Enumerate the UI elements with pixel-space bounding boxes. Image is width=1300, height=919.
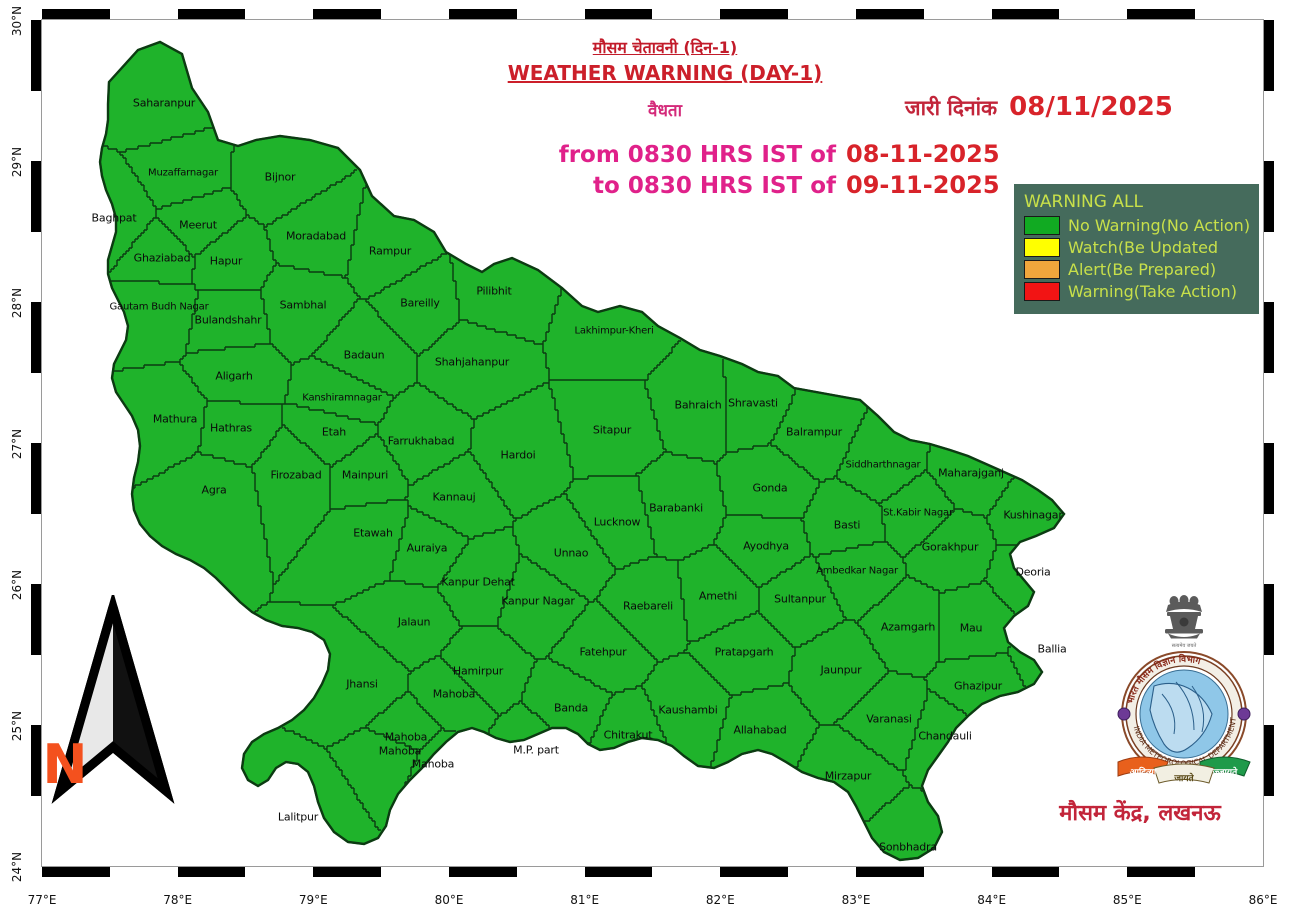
legend-color-swatch bbox=[1024, 216, 1060, 235]
validity-to-row: to 0830 HRS IST of 09-11-2025 bbox=[430, 171, 1010, 199]
imd-caption: मौसम केंद्र, लखनऊ bbox=[1000, 797, 1280, 827]
legend-item-label: No Warning(No Action) bbox=[1068, 216, 1250, 235]
x-axis-tick-label: 78°E bbox=[163, 893, 192, 907]
validity-from-date: 08-11-2025 bbox=[846, 140, 1000, 168]
imd-logo-icon: सत्यमेव जयते भारत मौसम विज्ञान विभाग IND… bbox=[1092, 586, 1277, 791]
legend-item[interactable]: No Warning(No Action) bbox=[1024, 216, 1251, 235]
x-axis-tick-label: 85°E bbox=[1113, 893, 1142, 907]
svg-text:ज्जायते: ज्जायते bbox=[1212, 766, 1238, 778]
y-axis-tick-label: 26°N bbox=[2, 562, 28, 606]
legend-item[interactable]: Warning(Take Action) bbox=[1024, 282, 1251, 301]
title-english: WEATHER WARNING (DAY-1) bbox=[430, 60, 900, 86]
legend-color-swatch bbox=[1024, 260, 1060, 279]
y-axis-tick-label: 28°N bbox=[2, 280, 28, 324]
y-axis-tick-label: 24°N bbox=[2, 844, 28, 888]
validity-block: from 0830 HRS IST of 08-11-2025 to 0830 … bbox=[430, 140, 1010, 202]
validity-from-row: from 0830 HRS IST of 08-11-2025 bbox=[430, 140, 1010, 168]
axis-band-bottom bbox=[31, 866, 1274, 877]
validity-to-date: 09-11-2025 bbox=[846, 171, 1000, 199]
issued-date-value: 08/11/2025 bbox=[1009, 92, 1173, 122]
legend-color-swatch bbox=[1024, 238, 1060, 257]
x-axis-tick-label: 81°E bbox=[570, 893, 599, 907]
x-axis-tick-label: 83°E bbox=[842, 893, 871, 907]
legend-color-swatch bbox=[1024, 282, 1060, 301]
y-axis-tick-label: 27°N bbox=[2, 421, 28, 465]
x-axis-tick-label: 79°E bbox=[299, 893, 328, 907]
issued-label: जारी दिनांक bbox=[905, 94, 997, 122]
x-axis-tick-label: 82°E bbox=[706, 893, 735, 907]
legend-item-label: Warning(Take Action) bbox=[1068, 282, 1237, 301]
title-hindi: मौसम चेतावनी (दिन-1) bbox=[430, 38, 900, 58]
legend-title: WARNING ALL bbox=[1024, 192, 1251, 212]
x-axis-tick-label: 80°E bbox=[435, 893, 464, 907]
x-axis-tick-label: 86°E bbox=[1249, 893, 1278, 907]
y-axis-tick-label: 29°N bbox=[2, 139, 28, 183]
legend-item-label: Watch(Be Updated bbox=[1068, 238, 1218, 257]
legend-item[interactable]: Watch(Be Updated bbox=[1024, 238, 1251, 257]
y-axis-tick-label: 30°N bbox=[2, 0, 28, 42]
legend-item-label: Alert(Be Prepared) bbox=[1068, 260, 1216, 279]
svg-text:सत्यमेव जयते: सत्यमेव जयते bbox=[1172, 642, 1197, 649]
validity-to-label: to 0830 HRS IST of bbox=[430, 173, 836, 199]
svg-text:जायते: जायते bbox=[1173, 772, 1194, 784]
legend-items: No Warning(No Action)Watch(Be UpdatedAle… bbox=[1024, 216, 1251, 301]
svg-text:आदित्या: आदित्या bbox=[1130, 766, 1157, 778]
validity-label-hindi: वैधता bbox=[430, 98, 900, 121]
weather-warning-map-page: SaharanpurMuzaffarnagarBijnorBaghpatMeer… bbox=[0, 0, 1300, 919]
title-block: मौसम चेतावनी (दिन-1) WEATHER WARNING (DA… bbox=[430, 38, 900, 121]
legend-item[interactable]: Alert(Be Prepared) bbox=[1024, 260, 1251, 279]
x-axis-tick-label: 77°E bbox=[28, 893, 57, 907]
warning-legend: WARNING ALL No Warning(No Action)Watch(B… bbox=[1014, 184, 1259, 314]
issued-date-block: जारी दिनांक 08/11/2025 bbox=[905, 92, 1173, 122]
x-axis-tick-label: 84°E bbox=[977, 893, 1006, 907]
north-arrow-letter: N bbox=[0, 738, 130, 792]
validity-from-label: from 0830 HRS IST of bbox=[430, 142, 836, 168]
